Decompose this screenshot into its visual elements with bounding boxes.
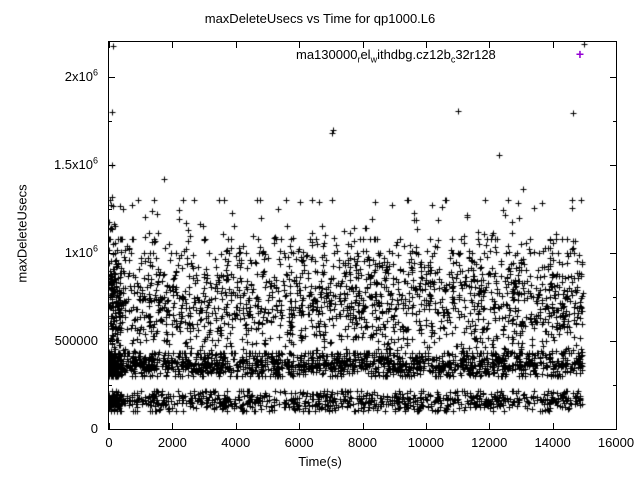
- y-minor-tick-mark: [109, 209, 112, 210]
- x-tick-mark: [236, 42, 237, 48]
- y-minor-tick-mark: [613, 297, 616, 298]
- x-tick-mark: [553, 423, 554, 429]
- x-tick-label: 16000: [576, 435, 640, 450]
- x-tick-mark: [172, 42, 173, 48]
- y-minor-tick-mark: [613, 385, 616, 386]
- x-tick-mark: [109, 42, 110, 48]
- y-tick-label: 0: [8, 421, 98, 436]
- y-tick-label: 2x106: [8, 69, 98, 84]
- y-tick-mark: [109, 77, 115, 78]
- y-minor-tick-mark: [613, 121, 616, 122]
- scatter-points-canvas: [109, 42, 616, 429]
- y-minor-tick-mark: [109, 121, 112, 122]
- x-tick-mark: [363, 423, 364, 429]
- y-tick-mark: [109, 165, 115, 166]
- y-tick-mark: [610, 77, 616, 78]
- y-tick-mark: [610, 253, 616, 254]
- y-tick-mark: [109, 341, 115, 342]
- y-tick-mark: [610, 165, 616, 166]
- y-tick-mark: [610, 429, 616, 430]
- x-tick-mark: [616, 42, 617, 48]
- y-minor-tick-mark: [109, 297, 112, 298]
- x-tick-mark: [109, 423, 110, 429]
- x-tick-mark: [236, 423, 237, 429]
- x-tick-mark: [553, 42, 554, 48]
- x-tick-mark: [489, 42, 490, 48]
- plot-area: [108, 41, 617, 430]
- x-tick-mark: [616, 423, 617, 429]
- y-tick-label: 500000: [8, 333, 98, 348]
- gnuplot-scatter-figure: maxDeleteUsecs vs Time for qp1000.L6 ma1…: [0, 0, 640, 480]
- page-title: maxDeleteUsecs vs Time for qp1000.L6: [0, 11, 640, 26]
- y-minor-tick-mark: [109, 385, 112, 386]
- x-tick-mark: [172, 423, 173, 429]
- x-tick-mark: [363, 42, 364, 48]
- y-tick-mark: [610, 341, 616, 342]
- x-tick-mark: [299, 42, 300, 48]
- y-axis-title: maxDeleteUsecs: [15, 134, 30, 334]
- x-tick-mark: [299, 423, 300, 429]
- x-tick-mark: [489, 423, 490, 429]
- x-axis-title: Time(s): [0, 454, 640, 469]
- y-tick-mark: [109, 429, 115, 430]
- x-tick-mark: [426, 42, 427, 48]
- y-minor-tick-mark: [613, 209, 616, 210]
- x-tick-mark: [426, 423, 427, 429]
- y-tick-mark: [109, 253, 115, 254]
